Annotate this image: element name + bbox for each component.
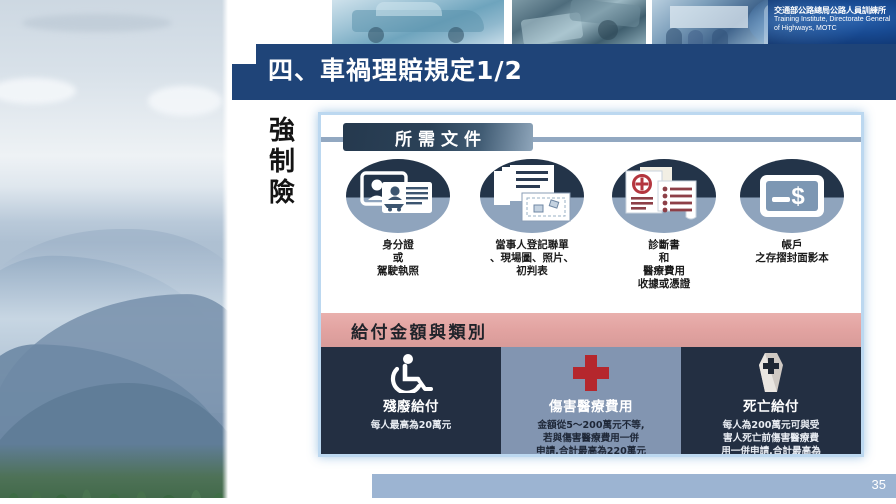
benefit-disability: 殘廢給付 每人最高為20萬元 xyxy=(321,347,501,454)
doc-icon-backdrop xyxy=(612,159,716,233)
doc-icon-backdrop: $ xyxy=(740,159,844,233)
treeline xyxy=(0,444,228,504)
photo-fade-edge xyxy=(222,0,228,504)
bottom-strip xyxy=(0,498,896,504)
svg-text:$: $ xyxy=(791,183,805,210)
report-forms-icon xyxy=(480,159,584,233)
cloud-shape xyxy=(148,86,222,116)
required-documents-section: 所需文件 xyxy=(321,115,861,313)
coffin-icon xyxy=(754,352,788,394)
cloud-shape xyxy=(22,14,172,32)
vehicle-wreck-photo xyxy=(512,0,646,44)
id-card-icon xyxy=(346,159,450,233)
cloud-shape xyxy=(0,78,76,104)
benefit-description: 每人為200萬元可與受害人死亡前傷害醫療費用一併申請,合計最高為220萬元 xyxy=(689,419,853,454)
payment-category-label: 給付金額與類別 xyxy=(351,318,488,343)
document-caption: 身分證或駕駛執照 xyxy=(333,239,463,278)
sedan-car-photo xyxy=(332,0,504,44)
benefit-description: 金額從5～200萬元不等,若與傷害醫療費用一併申請,合計最高為220萬元 xyxy=(509,419,673,454)
required-documents-label: 所需文件 xyxy=(389,125,487,150)
section-side-label: 強制險 xyxy=(258,116,306,209)
benefit-title: 傷害醫療費用 xyxy=(501,395,681,415)
benefit-title: 殘廢給付 xyxy=(321,395,501,415)
slide-title-bar: 四、車禍理賠規定1/2 xyxy=(232,44,896,100)
payment-category-banner: 給付金額與類別 xyxy=(321,313,861,347)
benefit-icon-wrapper xyxy=(681,353,861,393)
document-item-report-forms: 當事人登記聯單、現場圖、照片、初判表 xyxy=(467,159,597,278)
benefit-icon-wrapper xyxy=(501,353,681,393)
document-item-bankbook: $ 帳戶之存摺封面影本 xyxy=(727,159,857,265)
doc-icon-backdrop xyxy=(480,159,584,233)
organization-logo-block: 交通部公路總局公路人員訓練所 Training Institute, Direc… xyxy=(768,0,896,44)
benefit-death: 死亡給付 每人為200萬元可與受害人死亡前傷害醫療費用一併申請,合計最高為220… xyxy=(681,347,861,454)
mountain-landscape-photo xyxy=(0,0,228,504)
infographic-card: 交通部公路總局公路人員訓練所 Training Institute, Direc… xyxy=(318,112,864,457)
benefit-medical: 傷害醫療費用 金額從5～200萬元不等,若與傷害醫療費用一併申請,合計最高為22… xyxy=(501,347,681,454)
title-notch-decoration xyxy=(232,44,256,64)
document-caption: 當事人登記聯單、現場圖、照片、初判表 xyxy=(467,239,597,278)
doc-icon-backdrop xyxy=(346,159,450,233)
benefit-title: 死亡給付 xyxy=(681,395,861,415)
wheelchair-icon xyxy=(388,353,434,393)
document-caption: 診斷書和醫療費用收據或憑證 xyxy=(599,239,729,291)
benefits-row: 殘廢給付 每人最高為20萬元 傷害醫療費用 金額從5～200萬元不等,若與傷害醫… xyxy=(321,347,861,454)
footer-bar: 35 xyxy=(372,474,896,498)
slide-body: 強制險 xyxy=(232,100,896,460)
benefit-icon-wrapper xyxy=(321,353,501,393)
page-number: 35 xyxy=(872,477,886,492)
header-banner: 交通部公路總局公路人員訓練所 Training Institute, Direc… xyxy=(232,0,896,44)
page-title: 四、車禍理賠規定1/2 xyxy=(268,51,523,87)
document-caption: 帳戶之存摺封面影本 xyxy=(727,239,857,265)
presentation-slide: 交通部公路總局公路人員訓練所 Training Institute, Direc… xyxy=(0,0,896,504)
medical-receipt-icon xyxy=(612,159,716,233)
red-cross-icon xyxy=(571,353,611,393)
bankbook-icon: $ xyxy=(740,159,844,233)
document-item-medical-receipt: 診斷書和醫療費用收據或憑證 xyxy=(599,159,729,291)
benefit-description: 每人最高為20萬元 xyxy=(329,419,493,432)
document-item-id-card: 身分證或駕駛執照 xyxy=(333,159,463,278)
required-documents-banner: 所需文件 xyxy=(343,123,533,151)
organization-name-en: Training Institute, Directorate General … xyxy=(774,15,896,33)
